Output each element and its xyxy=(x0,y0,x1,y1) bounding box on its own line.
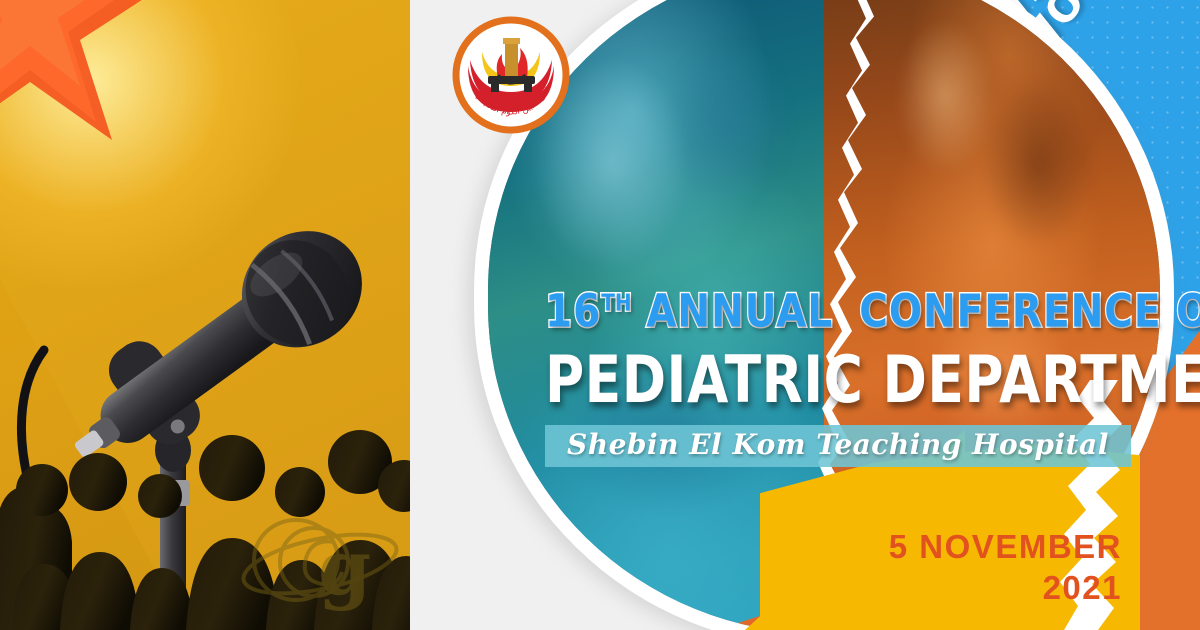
svg-text:g: g xyxy=(318,523,371,612)
title-line-1: 16TH ANNUALCONFERENCE OF xyxy=(545,286,1165,338)
date-line-1: 5 NOVEMBER xyxy=(889,526,1122,567)
g-logo-watermark-icon: g xyxy=(236,502,406,622)
title-block: 16TH ANNUALCONFERENCE OF PEDIATRIC DEPAR… xyxy=(545,286,1165,467)
hospital-logo-icon: مستشفى شبين الكوم التعليمي xyxy=(452,16,570,134)
title-word-annual: ANNUAL xyxy=(646,286,833,338)
title-ordinal-suffix: TH xyxy=(601,288,631,316)
hospital-ribbon: Shebin El Kom Teaching Hospital xyxy=(545,425,1131,467)
event-date: 5 NOVEMBER 2021 xyxy=(889,526,1122,609)
title-ordinal: 16 xyxy=(545,286,601,338)
title-line-2: PEDIATRIC DEPARTMENT xyxy=(545,342,1159,418)
date-line-2: 2021 xyxy=(889,567,1122,608)
left-decorative-panel: g xyxy=(0,0,410,630)
hospital-name: Shebin El Kom Teaching Hospital xyxy=(567,428,1109,461)
conference-poster: g WINTER WORKSHOP xyxy=(0,0,1200,630)
title-word-conference: CONFERENCE OF xyxy=(859,286,1200,338)
